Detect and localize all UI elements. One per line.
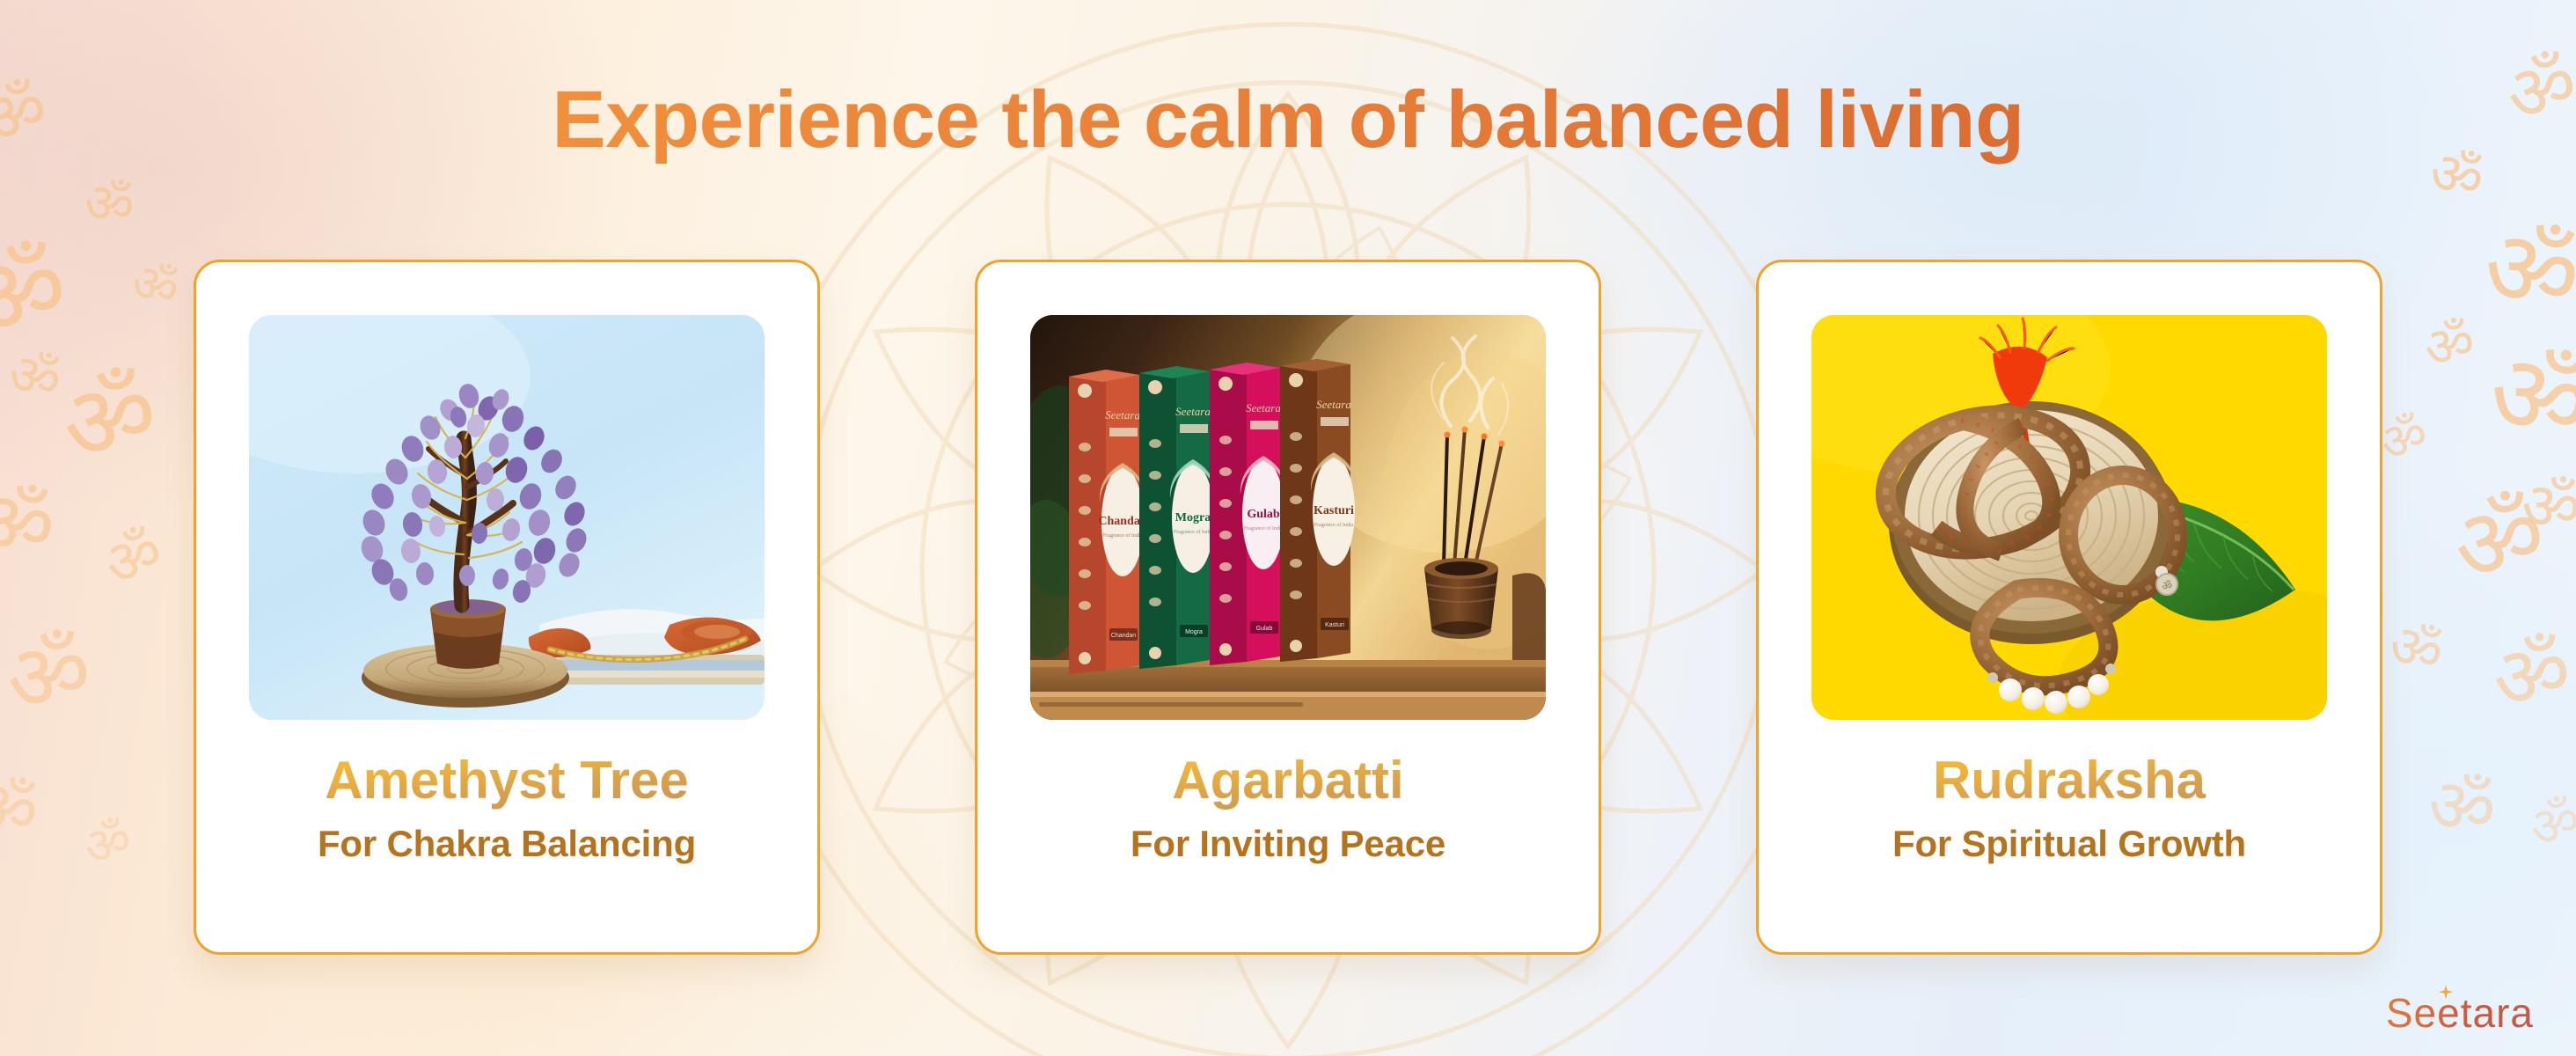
svg-text:Kasturi: Kasturi [1314,504,1354,517]
svg-text:Fragrance of India: Fragrance of India [1244,525,1284,532]
svg-text:Seetara: Seetara [1246,401,1281,414]
page-title: Experience the calm of balanced living [0,74,2576,166]
svg-text:Mogra: Mogra [1175,511,1211,524]
brand-logo[interactable]: Seetara [2386,989,2534,1037]
svg-text:Fragrance of India: Fragrance of India [1103,532,1143,539]
promo-banner: ॐ ॐ ॐ ॐ ॐ ॐ ॐ ॐ ॐ ॐ ॐ ॐ ॐ ॐ ॐ ॐ ॐ ॐ ॐ ॐ … [0,0,2576,1056]
card-subtitle: For Inviting Peace [1013,823,1563,865]
svg-text:Fragrance of India: Fragrance of India [1314,522,1354,528]
svg-text:Mogra: Mogra [1185,629,1203,635]
product-card-amethyst-tree[interactable]: Amethyst Tree For Chakra Balancing [194,260,820,955]
amethyst-tree-photo [249,315,765,720]
card-title: Amethyst Tree [231,750,782,810]
card-subtitle: For Chakra Balancing [231,823,782,865]
card-text-block: Agarbatti For Inviting Peace [1013,750,1563,865]
svg-text:Gulab: Gulab [1256,626,1273,632]
svg-text:Chandan: Chandan [1111,633,1137,639]
brand-logo-text: Seetara [2386,989,2534,1037]
svg-text:Seetara: Seetara [1316,398,1351,411]
product-card-agarbatti[interactable]: Seetara Chandan Fragrance of India Chand… [975,260,1601,955]
svg-text:Seetara: Seetara [1105,408,1140,422]
card-title: Agarbatti [1013,750,1563,810]
product-card-list: Amethyst Tree For Chakra Balancing [0,260,2576,964]
card-text-block: Rudraksha For Spiritual Growth [1794,750,2345,865]
svg-text:ॐ: ॐ [2162,580,2172,593]
card-text-block: Amethyst Tree For Chakra Balancing [231,750,782,865]
card-title: Rudraksha [1794,750,2345,810]
product-card-rudraksha[interactable]: ॐ [1756,260,2382,955]
svg-text:Seetara: Seetara [1175,405,1211,418]
rudraksha-photo: ॐ [1811,315,2327,720]
svg-text:Gulab: Gulab [1247,508,1280,521]
sparkle-icon [2437,984,2455,1001]
agarbatti-photo: Seetara Chandan Fragrance of India Chand… [1030,315,1546,720]
svg-text:Fragrance of India: Fragrance of India [1174,529,1213,535]
svg-text:Kasturi: Kasturi [1325,622,1344,628]
card-subtitle: For Spiritual Growth [1794,823,2345,865]
